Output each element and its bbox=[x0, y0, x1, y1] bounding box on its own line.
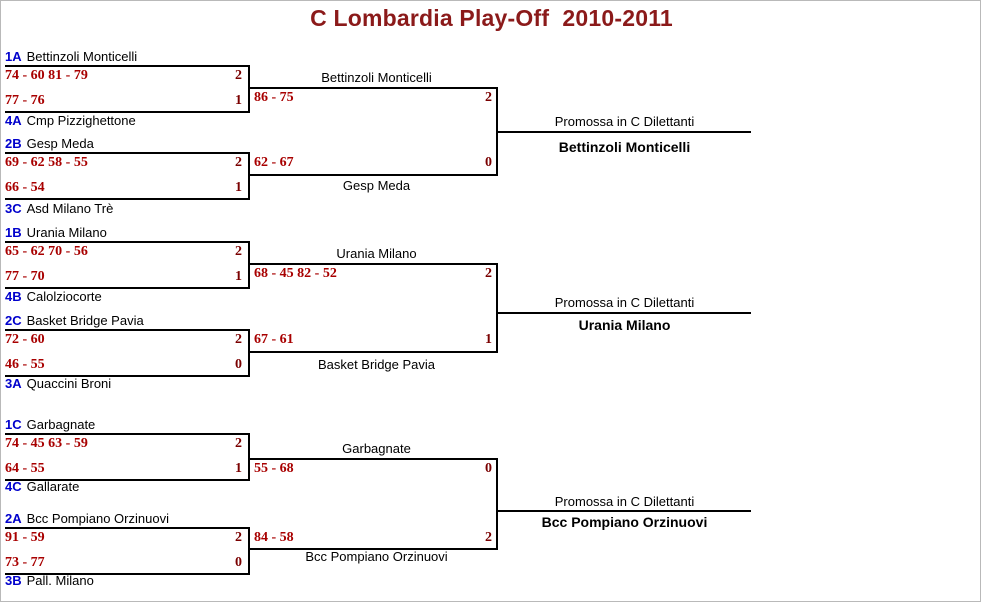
sf-team-label: Urania Milano bbox=[250, 247, 498, 261]
series-scores: 64 - 55 bbox=[5, 462, 45, 476]
team-name: Basket Bridge Pavia bbox=[22, 313, 144, 328]
bracket-line bbox=[498, 131, 751, 133]
sf-team-label: Garbagnate bbox=[250, 442, 498, 456]
series-scores: 74 - 60 81 - 79 bbox=[5, 69, 88, 83]
seed-code: 2B bbox=[5, 136, 22, 151]
qf-team-label: 4CGallarate bbox=[5, 480, 79, 494]
qf-team-label: 2BGesp Meda bbox=[5, 137, 94, 151]
series-scores: 46 - 55 bbox=[5, 358, 45, 372]
bracket-line bbox=[250, 458, 498, 460]
series-wins: 1 bbox=[201, 181, 242, 195]
seed-code: 4B bbox=[5, 289, 22, 304]
series-wins: 2 bbox=[201, 333, 242, 347]
series-wins: 2 bbox=[201, 156, 242, 170]
team-name: Asd Milano Trè bbox=[22, 201, 114, 216]
bracket-line bbox=[250, 351, 498, 353]
series-wins: 2 bbox=[201, 245, 242, 259]
seed-code: 4A bbox=[5, 113, 22, 128]
winner-team-name: Bettinzoli Monticelli bbox=[498, 139, 751, 155]
team-name: Garbagnate bbox=[337, 441, 411, 456]
series-scores: 72 - 60 bbox=[5, 333, 45, 347]
team-name: Bettinzoli Monticelli bbox=[316, 70, 432, 85]
bracket-line bbox=[5, 241, 250, 243]
qf-team-label: 3BPall. Milano bbox=[5, 574, 94, 588]
team-name: Bcc Pompiano Orzinuovi bbox=[22, 511, 169, 526]
bracket-line bbox=[5, 527, 250, 529]
sf-team-label: Bettinzoli Monticelli bbox=[250, 71, 498, 85]
series-scores: 66 - 54 bbox=[5, 181, 45, 195]
series-wins: 2 bbox=[451, 91, 492, 105]
series-wins: 2 bbox=[201, 437, 242, 451]
promotion-label: Promossa in C Dilettanti bbox=[498, 494, 751, 509]
seed-code: 3C bbox=[5, 201, 22, 216]
series-scores: 91 - 59 bbox=[5, 531, 45, 545]
series-scores: 55 - 68 bbox=[254, 462, 294, 476]
series-scores: 84 - 58 bbox=[254, 531, 294, 545]
seed-code: 3B bbox=[5, 573, 22, 588]
winner-team-name: Bcc Pompiano Orzinuovi bbox=[498, 514, 751, 530]
page-title: C Lombardia Play-Off 2010-2011 bbox=[1, 5, 981, 32]
series-wins: 1 bbox=[201, 270, 242, 284]
bracket-line bbox=[5, 152, 250, 154]
qf-team-label: 1BUrania Milano bbox=[5, 226, 107, 240]
seed-code: 3A bbox=[5, 376, 22, 391]
series-wins: 0 bbox=[201, 556, 242, 570]
bracket-line bbox=[5, 329, 250, 331]
series-scores: 62 - 67 bbox=[254, 156, 294, 170]
promotion-label: Promossa in C Dilettanti bbox=[498, 295, 751, 310]
team-name: Gesp Meda bbox=[22, 136, 94, 151]
seed-code: 4C bbox=[5, 479, 22, 494]
team-name: Calolziocorte bbox=[22, 289, 102, 304]
qf-team-label: 3CAsd Milano Trè bbox=[5, 202, 113, 216]
series-wins: 2 bbox=[451, 531, 492, 545]
team-name: Gesp Meda bbox=[338, 178, 410, 193]
series-scores: 68 - 45 82 - 52 bbox=[254, 267, 337, 281]
seed-code: 1C bbox=[5, 417, 22, 432]
team-name: Bettinzoli Monticelli bbox=[22, 49, 138, 64]
seed-code: 1A bbox=[5, 49, 22, 64]
winner-team-name: Urania Milano bbox=[498, 317, 751, 333]
team-name: Gallarate bbox=[22, 479, 80, 494]
team-name: Urania Milano bbox=[331, 246, 416, 261]
series-wins: 1 bbox=[201, 94, 242, 108]
qf-team-label: 4ACmp Pizzighettone bbox=[5, 114, 136, 128]
qf-team-label: 1CGarbagnate bbox=[5, 418, 95, 432]
bracket-line bbox=[250, 263, 498, 265]
bracket-line bbox=[5, 65, 250, 67]
series-wins: 1 bbox=[201, 462, 242, 476]
seed-code: 2A bbox=[5, 511, 22, 526]
series-wins: 0 bbox=[451, 462, 492, 476]
qf-team-label: 2CBasket Bridge Pavia bbox=[5, 314, 144, 328]
team-name: Quaccini Broni bbox=[22, 376, 112, 391]
bracket-page: C Lombardia Play-Off 2010-2011 1ABettinz… bbox=[0, 0, 981, 602]
qf-team-label: 3AQuaccini Broni bbox=[5, 377, 111, 391]
team-name: Urania Milano bbox=[22, 225, 107, 240]
series-wins: 2 bbox=[201, 69, 242, 83]
sf-team-label: Basket Bridge Pavia bbox=[250, 358, 498, 372]
team-name: Basket Bridge Pavia bbox=[313, 357, 435, 372]
bracket-line bbox=[248, 433, 250, 481]
bracket-line bbox=[250, 87, 498, 89]
team-name: Cmp Pizzighettone bbox=[22, 113, 136, 128]
series-scores: 65 - 62 70 - 56 bbox=[5, 245, 88, 259]
team-name: Pall. Milano bbox=[22, 573, 94, 588]
bracket-line bbox=[498, 312, 751, 314]
series-scores: 69 - 62 58 - 55 bbox=[5, 156, 88, 170]
team-name: Garbagnate bbox=[22, 417, 96, 432]
series-wins: 1 bbox=[451, 333, 492, 347]
seed-code: 1B bbox=[5, 225, 22, 240]
qf-team-label: 4BCalolziocorte bbox=[5, 290, 102, 304]
series-wins: 2 bbox=[201, 531, 242, 545]
series-scores: 86 - 75 bbox=[254, 91, 294, 105]
bracket-line bbox=[5, 198, 250, 200]
bracket-line bbox=[498, 510, 751, 512]
series-wins: 0 bbox=[451, 156, 492, 170]
bracket-line bbox=[5, 433, 250, 435]
qf-team-label: 1ABettinzoli Monticelli bbox=[5, 50, 137, 64]
series-scores: 74 - 45 63 - 59 bbox=[5, 437, 88, 451]
seed-code: 2C bbox=[5, 313, 22, 328]
series-wins: 0 bbox=[201, 358, 242, 372]
sf-team-label: Gesp Meda bbox=[250, 179, 498, 193]
qf-team-label: 2ABcc Pompiano Orzinuovi bbox=[5, 512, 169, 526]
series-scores: 73 - 77 bbox=[5, 556, 45, 570]
bracket-line bbox=[250, 174, 498, 176]
series-scores: 67 - 61 bbox=[254, 333, 294, 347]
team-name: Bcc Pompiano Orzinuovi bbox=[300, 549, 447, 564]
series-wins: 2 bbox=[451, 267, 492, 281]
promotion-label: Promossa in C Dilettanti bbox=[498, 114, 751, 129]
series-scores: 77 - 70 bbox=[5, 270, 45, 284]
series-scores: 77 - 76 bbox=[5, 94, 45, 108]
sf-team-label: Bcc Pompiano Orzinuovi bbox=[250, 550, 498, 564]
